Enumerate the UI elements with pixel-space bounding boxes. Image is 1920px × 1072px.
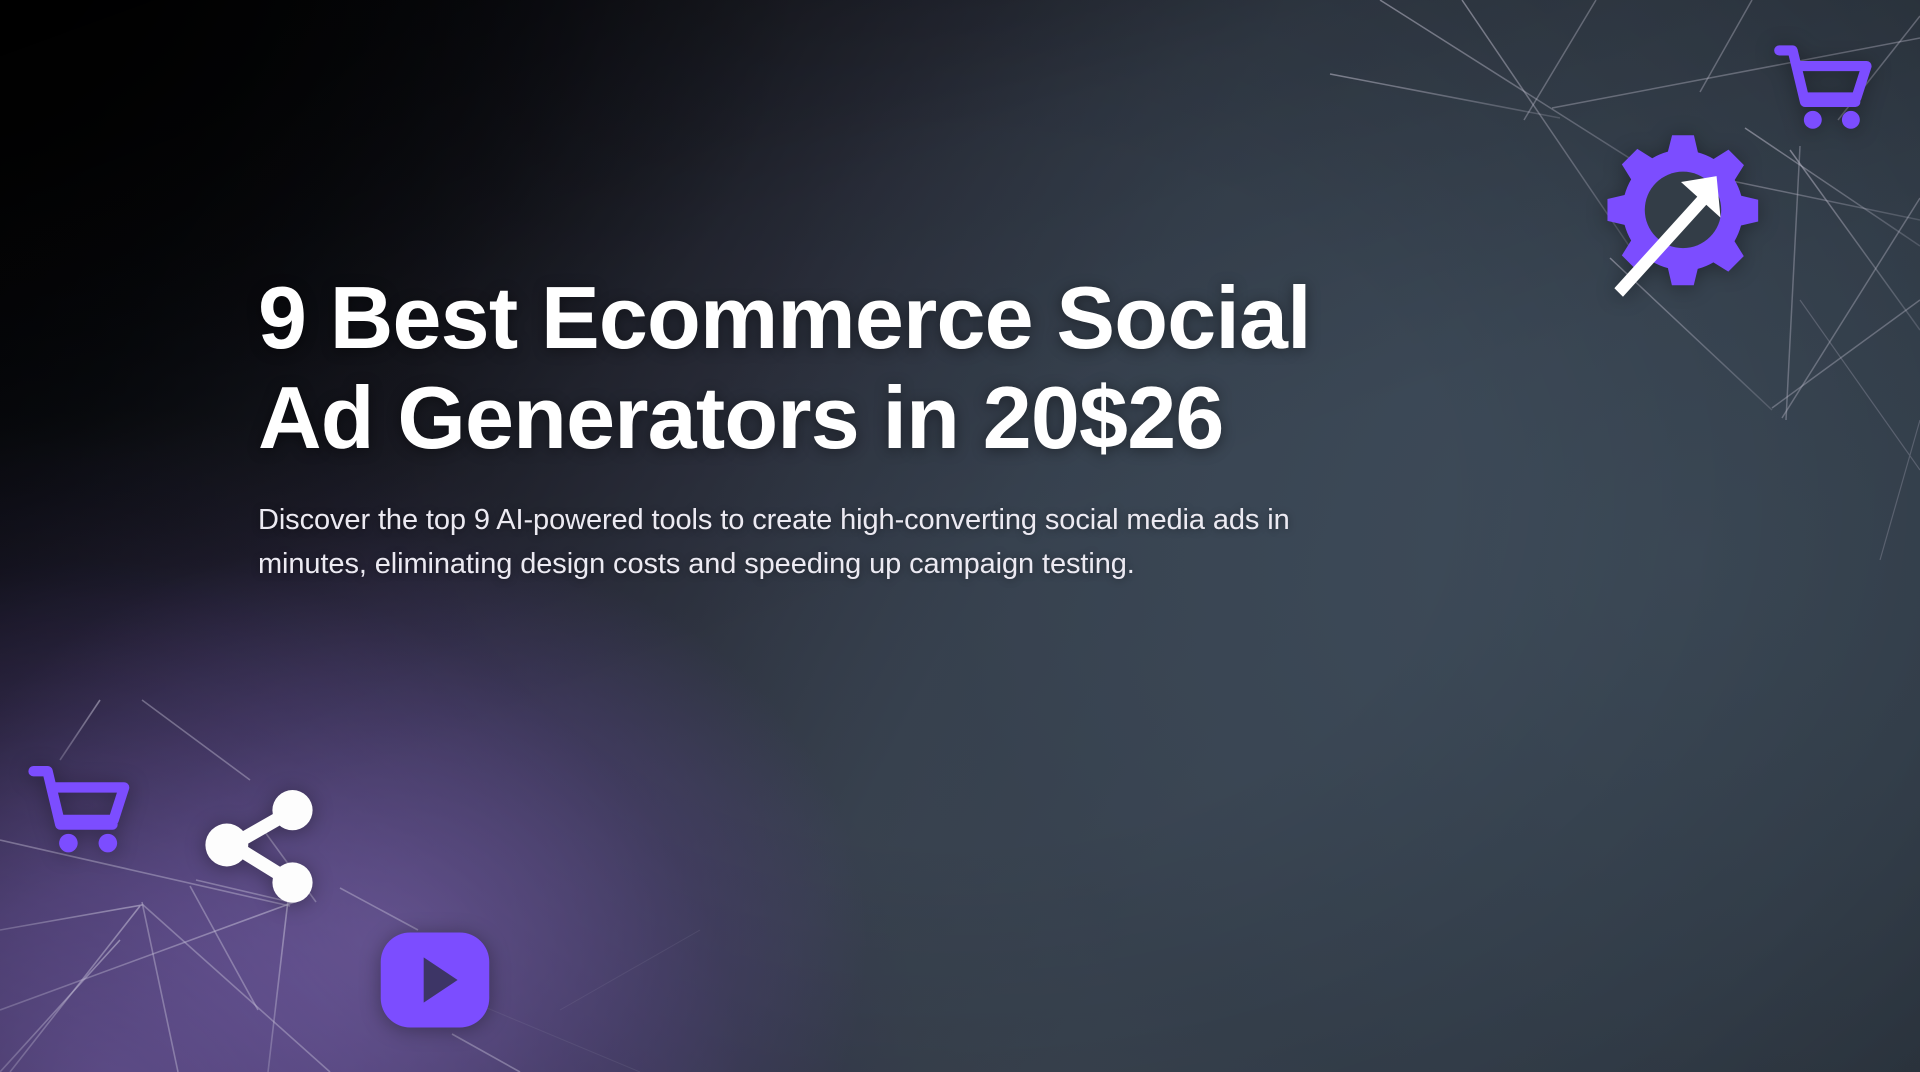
- youtube-play-icon: [378, 928, 492, 1032]
- hero-banner: 9 Best Ecommerce Social Ad Generators in…: [0, 0, 1920, 1072]
- share-icon: [192, 778, 326, 912]
- page-title: 9 Best Ecommerce Social Ad Generators in…: [258, 268, 1388, 468]
- hero-subtitle: Discover the top 9 AI-powered tools to c…: [258, 498, 1343, 586]
- shopping-cart-icon: [1768, 28, 1880, 140]
- gear-arrow-icon: [1592, 128, 1774, 310]
- shopping-cart-icon: [22, 748, 138, 864]
- hero-text-block: 9 Best Ecommerce Social Ad Generators in…: [258, 268, 1388, 586]
